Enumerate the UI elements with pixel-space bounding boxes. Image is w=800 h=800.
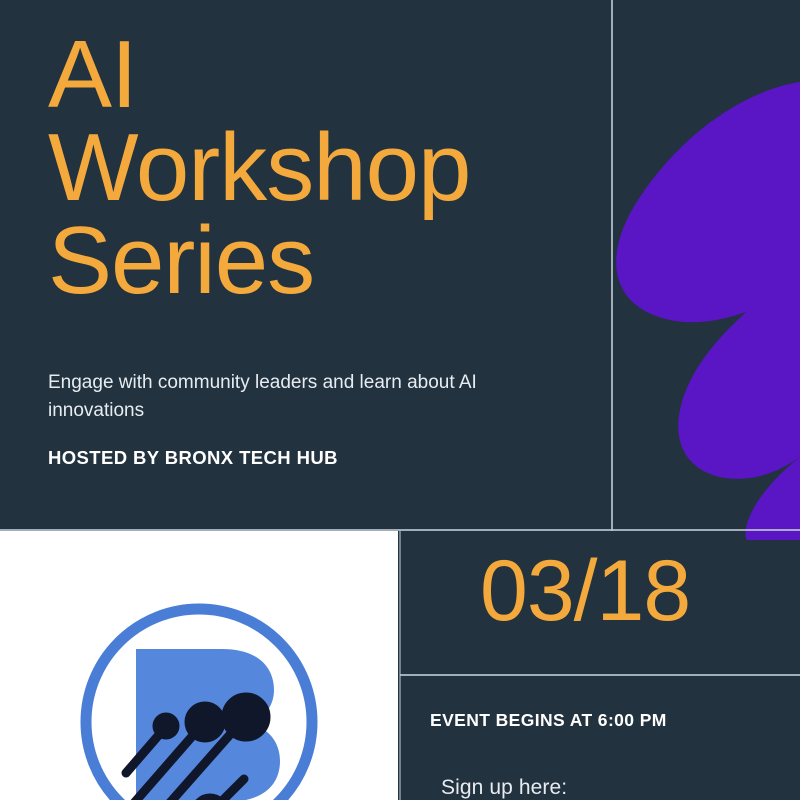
event-date: 03/18 [480,548,690,634]
poster-subtitle: Engage with community leaders and learn … [48,369,478,424]
signup-label: Sign up here: [441,776,567,800]
hosted-by-label: HOSTED BY BRONX TECH HUB [48,447,338,469]
purple-blob-decoration [600,80,800,540]
event-poster: AI Workshop Series Engage with community… [0,0,800,800]
event-time-label: EVENT BEGINS AT 6:00 PM [430,710,667,731]
bronx-tech-hub-logo-icon [74,597,324,800]
logo-panel [0,531,398,800]
horizontal-divider-lower [400,674,800,676]
vertical-divider-top [611,0,613,531]
poster-headline: AI Workshop Series [48,28,568,307]
purple-blob-icon [600,80,800,540]
vertical-divider-bottom [399,531,401,800]
